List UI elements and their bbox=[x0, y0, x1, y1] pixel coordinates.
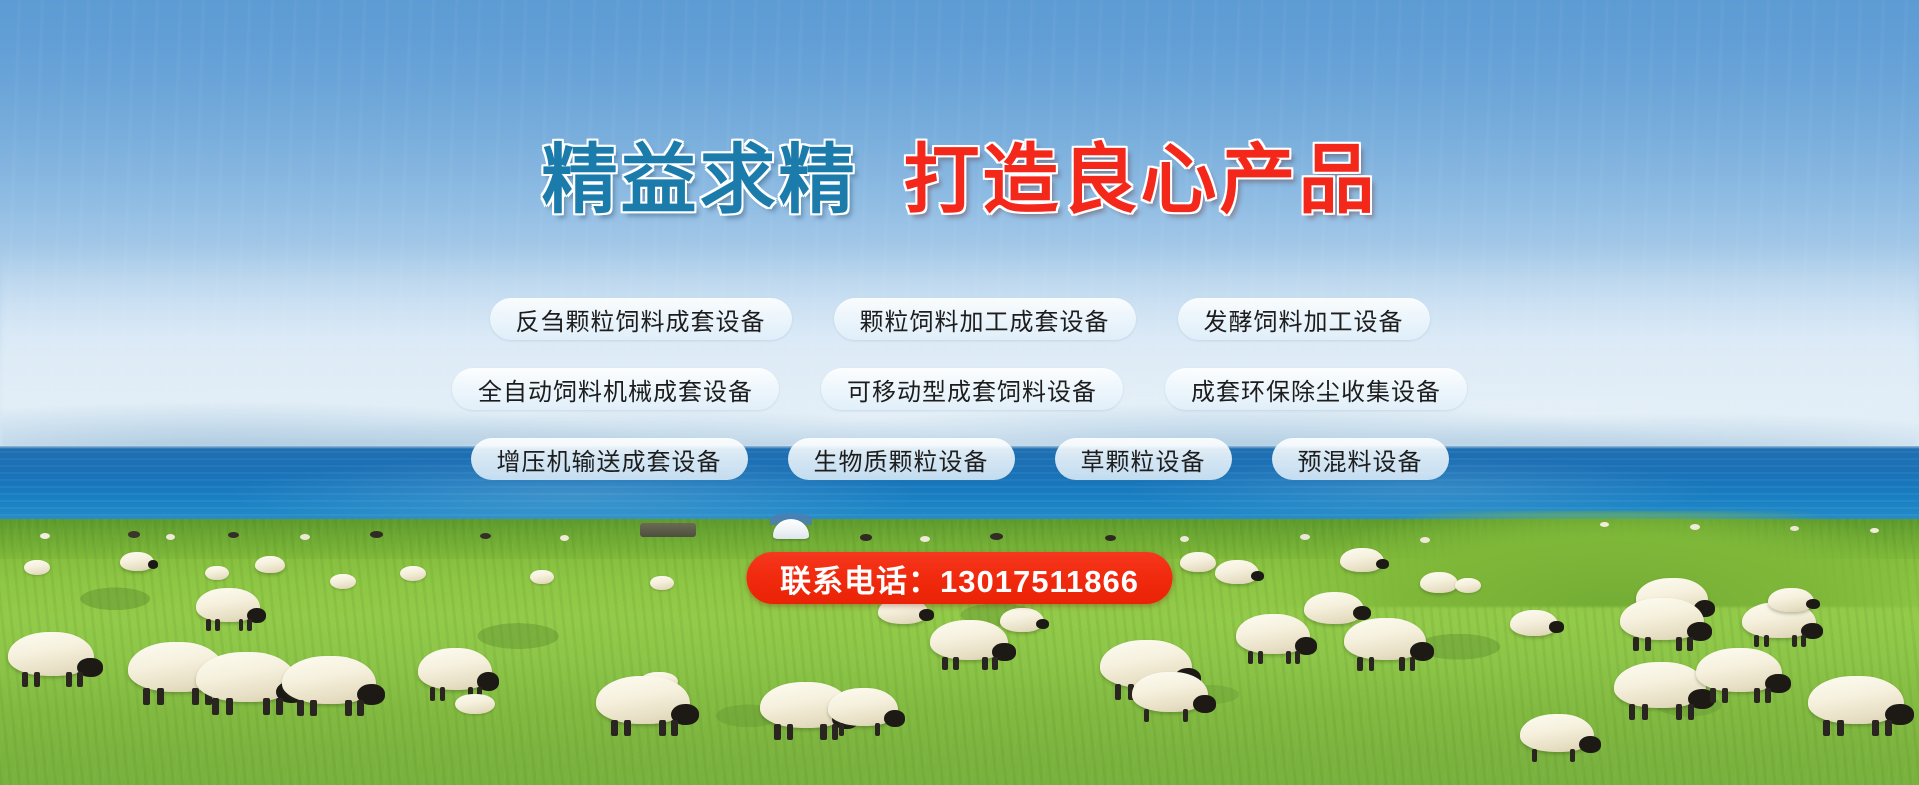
sheep bbox=[930, 620, 1008, 660]
sheep bbox=[205, 566, 229, 580]
contact-phone-banner[interactable]: 联系电话：13017511866 bbox=[746, 552, 1173, 604]
sheep bbox=[1510, 610, 1558, 636]
sheep bbox=[1455, 578, 1481, 593]
sheep bbox=[828, 688, 898, 726]
product-pill[interactable]: 可移动型成套饲料设备 bbox=[821, 368, 1123, 410]
distant-animal bbox=[370, 531, 383, 538]
sheep bbox=[1180, 552, 1216, 572]
distant-animal bbox=[1420, 537, 1430, 543]
sheep bbox=[1132, 672, 1208, 712]
product-pill[interactable]: 反刍颗粒饲料成套设备 bbox=[490, 298, 792, 340]
distant-animal bbox=[1690, 524, 1700, 530]
sheep bbox=[1768, 588, 1814, 612]
distant-animal bbox=[480, 533, 491, 539]
sheep bbox=[1420, 572, 1458, 593]
sheep bbox=[1614, 662, 1706, 708]
sheep bbox=[1808, 676, 1904, 724]
sheep bbox=[400, 566, 426, 581]
distant-animal bbox=[1180, 536, 1189, 542]
distant-animal bbox=[990, 533, 1003, 540]
distant-animal bbox=[1600, 522, 1609, 527]
distant-animal bbox=[1300, 534, 1310, 540]
sheep bbox=[255, 556, 285, 573]
sheep bbox=[418, 648, 492, 690]
sheep bbox=[650, 576, 674, 590]
sheep bbox=[330, 574, 356, 589]
sheep bbox=[596, 676, 690, 724]
product-pill[interactable]: 成套环保除尘收集设备 bbox=[1165, 368, 1467, 410]
product-pill-row-2: 全自动饲料机械成套设备 可移动型成套饲料设备 成套环保除尘收集设备 bbox=[0, 368, 1919, 410]
sheep bbox=[1000, 608, 1044, 632]
sheep bbox=[282, 656, 376, 704]
sheep bbox=[196, 588, 260, 622]
product-pill[interactable]: 全自动饲料机械成套设备 bbox=[452, 368, 779, 410]
product-pill[interactable]: 发酵饲料加工设备 bbox=[1178, 298, 1430, 340]
sheep bbox=[1520, 714, 1594, 752]
headline: 精益求精打造良心产品 bbox=[0, 143, 1919, 219]
product-pill-row-1: 反刍颗粒饲料成套设备 颗粒饲料加工成套设备 发酵饲料加工设备 bbox=[0, 298, 1919, 340]
distant-animal bbox=[860, 534, 872, 541]
distant-animal bbox=[1105, 535, 1116, 541]
distant-animal bbox=[228, 532, 239, 538]
sheep bbox=[24, 560, 50, 575]
product-pill[interactable]: 颗粒饲料加工成套设备 bbox=[834, 298, 1136, 340]
sheep bbox=[1215, 560, 1259, 584]
distant-animal bbox=[300, 534, 310, 540]
sheep bbox=[1620, 598, 1704, 640]
sheep bbox=[196, 652, 296, 702]
headline-red-text: 打造良心产品 bbox=[904, 138, 1378, 223]
sheep bbox=[1344, 618, 1426, 660]
distant-animal bbox=[128, 531, 140, 538]
sheep bbox=[455, 694, 495, 714]
sheep bbox=[120, 552, 154, 571]
product-pill[interactable]: 生物质颗粒设备 bbox=[788, 438, 1015, 480]
sheep bbox=[1696, 648, 1782, 692]
distant-animal bbox=[1790, 526, 1799, 531]
product-pill-row-3: 增压机输送成套设备 生物质颗粒设备 草颗粒设备 预混料设备 bbox=[0, 438, 1919, 480]
product-pill[interactable]: 预混料设备 bbox=[1272, 438, 1449, 480]
sheep bbox=[8, 632, 94, 676]
sheep bbox=[1340, 548, 1384, 572]
banner-stage: 精益求精打造良心产品 反刍颗粒饲料成套设备 颗粒饲料加工成套设备 发酵饲料加工设… bbox=[0, 0, 1919, 785]
distant-animal bbox=[1870, 528, 1879, 533]
distant-animal bbox=[166, 534, 175, 540]
sheep bbox=[530, 570, 554, 584]
distant-animal bbox=[40, 533, 50, 539]
shed bbox=[640, 523, 696, 537]
sheep bbox=[1236, 614, 1310, 654]
distant-animal bbox=[560, 535, 569, 541]
product-pill[interactable]: 增压机输送成套设备 bbox=[471, 438, 748, 480]
distant-animal bbox=[920, 536, 930, 542]
headline-blue-text: 精益求精 bbox=[542, 138, 858, 223]
product-pill[interactable]: 草颗粒设备 bbox=[1055, 438, 1232, 480]
